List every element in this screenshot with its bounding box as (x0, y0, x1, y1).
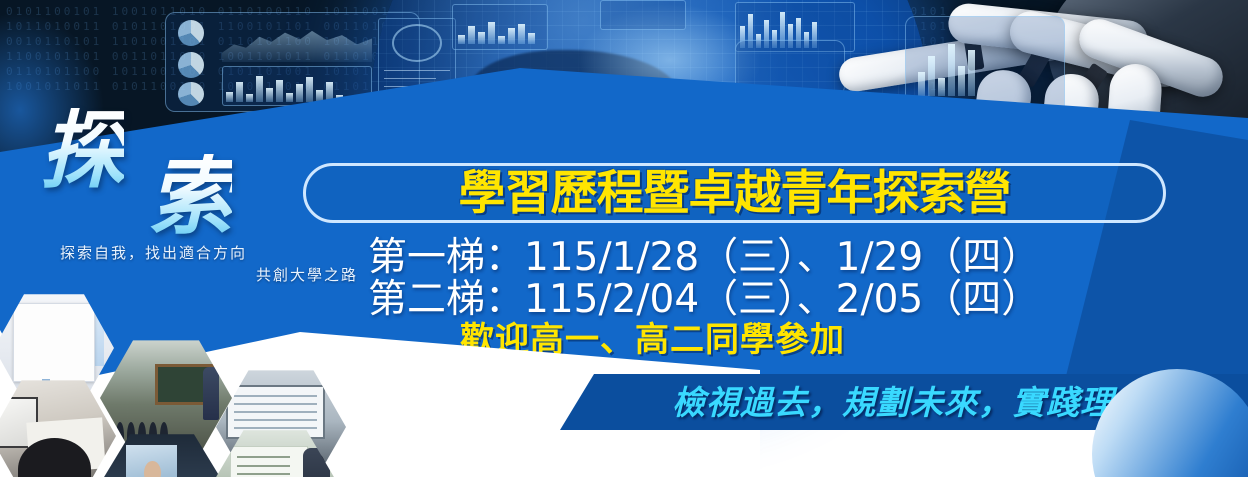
subtitle-block: 探索自我，找出適合方向 共創大學之路 (60, 243, 360, 287)
promotional-banner: 0101100101 1001011010 0110100110 1011001… (0, 0, 1248, 477)
poster-sheet (13, 303, 95, 381)
talk-slide (230, 446, 308, 477)
hud-ring-chart (392, 24, 442, 62)
hud-bars-hand-top (918, 40, 975, 96)
projected-speaker-face (144, 461, 161, 477)
main-title: 學習歷程暨卓越青年探索營 (312, 166, 1157, 220)
brand-title: 探 索 (40, 108, 340, 243)
session-line-2: 第二梯：115/2/04（三）、2/05（四） (368, 278, 1040, 322)
hud-panel-globe-top (600, 0, 686, 30)
hud-pie-3-icon (178, 82, 204, 106)
hud-pie-1-icon (178, 20, 204, 46)
session-line-1: 第一梯：115/1/28（三）、1/29（四） (368, 236, 1040, 280)
hud-pie-2-icon (178, 52, 204, 78)
brand-title-char-2: 索 (148, 154, 232, 240)
hud-report-line-1 (384, 70, 450, 71)
hud-bars-small (226, 72, 343, 102)
subtitle-line-1: 探索自我，找出適合方向 (60, 243, 360, 265)
lecturer (203, 367, 219, 420)
hud-report-line-2 (384, 78, 436, 79)
hud-bars-center (458, 18, 535, 44)
brand-title-char-1: 探 (40, 108, 124, 194)
subtitle-line-2: 共創大學之路 (60, 265, 360, 287)
